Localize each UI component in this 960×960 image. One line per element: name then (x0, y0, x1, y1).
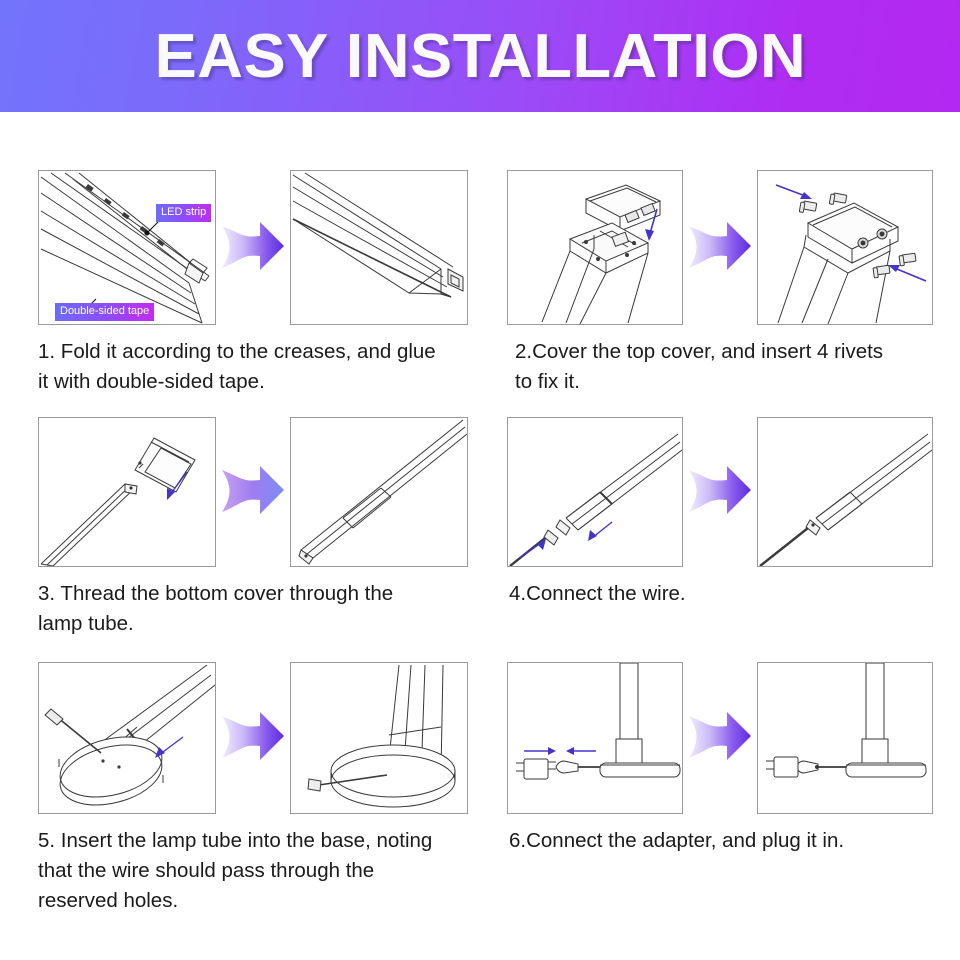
step-3-figures (38, 417, 468, 567)
step-3-panel-after (290, 417, 468, 567)
step-2-figures (507, 170, 935, 325)
diagram-cover-fitted-with-rivets (758, 171, 932, 324)
connection-dot (815, 765, 819, 769)
leader-lines (79, 221, 159, 316)
step-2-panel-before (507, 170, 683, 325)
diagram-wire-and-connector-apart (508, 418, 682, 566)
step-6-panel-before (507, 662, 683, 814)
step-4-arrow (683, 460, 757, 524)
step-1-figures: LED strip Double-sided tape (38, 170, 478, 325)
step-5-figures (38, 662, 478, 814)
diagram-flat-sheet-with-led-strip (39, 171, 215, 324)
step-6-arrow (683, 706, 757, 770)
step-5-panel-before (38, 662, 216, 814)
step-6: 6.Connect the adapter, and plug it in. (507, 662, 933, 856)
installation-guide-page: EASY INSTALLATION (0, 0, 960, 960)
right-arrow-icon (687, 216, 753, 280)
page-header-banner: EASY INSTALLATION (0, 0, 960, 112)
step-3-panel-before (38, 417, 216, 567)
step-4-panel-after (757, 417, 933, 567)
step-5-panel-after (290, 662, 468, 814)
step-5-caption: 5. Insert the lamp tube into the base, n… (38, 826, 478, 916)
step-1-arrow (216, 216, 290, 280)
diagram-tube-above-base (39, 663, 215, 813)
end-detail (304, 554, 307, 557)
step-4-caption: 4.Connect the wire. (509, 579, 909, 609)
diagram-cover-threaded-on-tube (291, 418, 467, 566)
right-arrow-icon (220, 216, 286, 280)
diagram-adapter-plugged-in (758, 663, 932, 813)
diagram-top-cover-above-tube (508, 171, 682, 324)
step-4-panel-before (507, 417, 683, 567)
page-title: EASY INSTALLATION (154, 21, 806, 92)
motion-arrow-icon (155, 737, 183, 758)
joint-dot (811, 523, 814, 526)
label-led-strip: LED strip (156, 204, 211, 222)
step-3-arrow (216, 460, 290, 524)
steps-grid: LED strip Double-sided tape (0, 112, 960, 960)
step-6-caption: 6.Connect the adapter, and plug it in. (509, 826, 929, 856)
step-5: 5. Insert the lamp tube into the base, n… (38, 662, 478, 916)
step-1-panel-after (290, 170, 468, 325)
diagram-wire-connected (758, 418, 932, 566)
diagram-tube-seated-in-base (291, 663, 467, 813)
step-1-panel-before: LED strip Double-sided tape (38, 170, 216, 325)
step-5-arrow (216, 706, 290, 770)
diagram-adapter-and-lamp-apart (508, 663, 682, 813)
label-double-sided-tape: Double-sided tape (55, 303, 154, 321)
step-2-arrow (683, 216, 757, 280)
step-3: 3. Thread the bottom cover through the l… (38, 417, 468, 639)
step-3-caption: 3. Thread the bottom cover through the l… (38, 579, 468, 639)
direction-arrows-icon (524, 747, 596, 755)
step-1: LED strip Double-sided tape (38, 170, 478, 397)
right-arrow-icon (687, 460, 753, 524)
step-4-figures (507, 417, 933, 567)
step-6-panel-after (757, 662, 933, 814)
step-2-caption: 2.Cover the top cover, and insert 4 rive… (515, 337, 935, 397)
right-arrow-icon (220, 460, 286, 524)
diagram-bottom-cover-and-tube (39, 418, 215, 566)
step-1-caption: 1. Fold it according to the creases, and… (38, 337, 478, 397)
step-2-panel-after (757, 170, 933, 325)
step-6-figures (507, 662, 933, 814)
step-2: 2.Cover the top cover, and insert 4 rive… (507, 170, 935, 397)
diagram-folded-profile (291, 171, 467, 324)
right-arrow-icon (220, 706, 286, 770)
right-arrow-icon (687, 706, 753, 770)
step-4: 4.Connect the wire. (507, 417, 933, 609)
